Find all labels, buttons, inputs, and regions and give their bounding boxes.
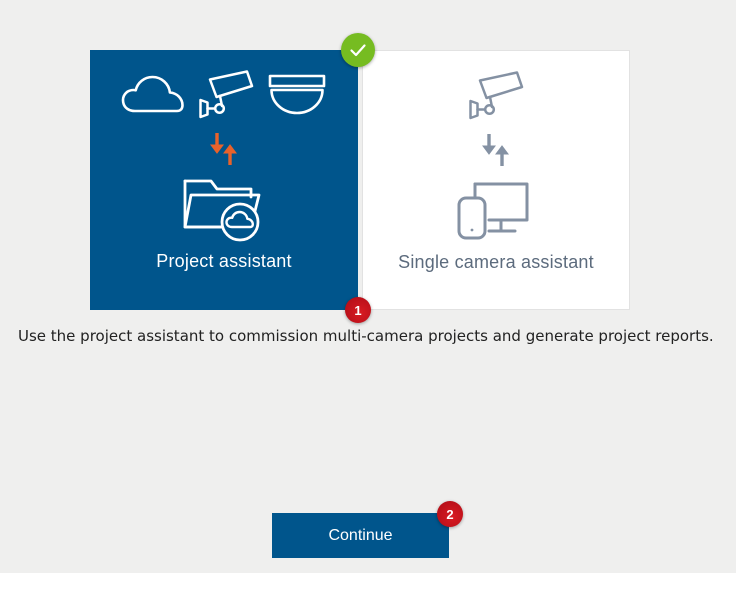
bullet-camera-icon (195, 67, 257, 119)
selected-check-icon (341, 33, 375, 67)
down-up-arrows-icon (204, 131, 244, 167)
card-project-assistant[interactable]: Project assistant 1 (90, 50, 358, 310)
folder-cloud-icon (181, 171, 267, 245)
project-assistant-illustration (90, 50, 358, 250)
card-label-project-assistant: Project assistant (156, 250, 291, 272)
assistant-cards-row: Project assistant 1 (90, 50, 630, 310)
down-up-arrows-icon (476, 132, 516, 168)
card-label-single-camera-assistant: Single camera assistant (398, 251, 594, 273)
sync-arrows-block (204, 128, 244, 170)
assistant-description: Use the project assistant to commission … (18, 326, 718, 346)
card-single-camera-assistant[interactable]: Single camera assistant (362, 50, 630, 310)
continue-button[interactable]: Continue (272, 513, 449, 558)
continue-button-wrapper: Continue 2 (272, 513, 449, 558)
step-badge-2: 2 (437, 501, 463, 527)
client-devices-block (453, 171, 539, 247)
single-camera-illustration (363, 51, 629, 251)
project-storage-block (181, 170, 267, 246)
cloud-icon (121, 70, 185, 116)
dome-camera-icon (267, 71, 327, 115)
assistant-selection-page: Project assistant 1 (0, 0, 736, 595)
device-icon-row (121, 58, 327, 128)
bottom-strip (0, 573, 736, 595)
monitor-phone-icon (453, 176, 539, 242)
sync-arrows-block (476, 129, 516, 171)
step-badge-1: 1 (345, 297, 371, 323)
bullet-camera-icon (465, 68, 527, 120)
camera-icon-row (465, 59, 527, 129)
